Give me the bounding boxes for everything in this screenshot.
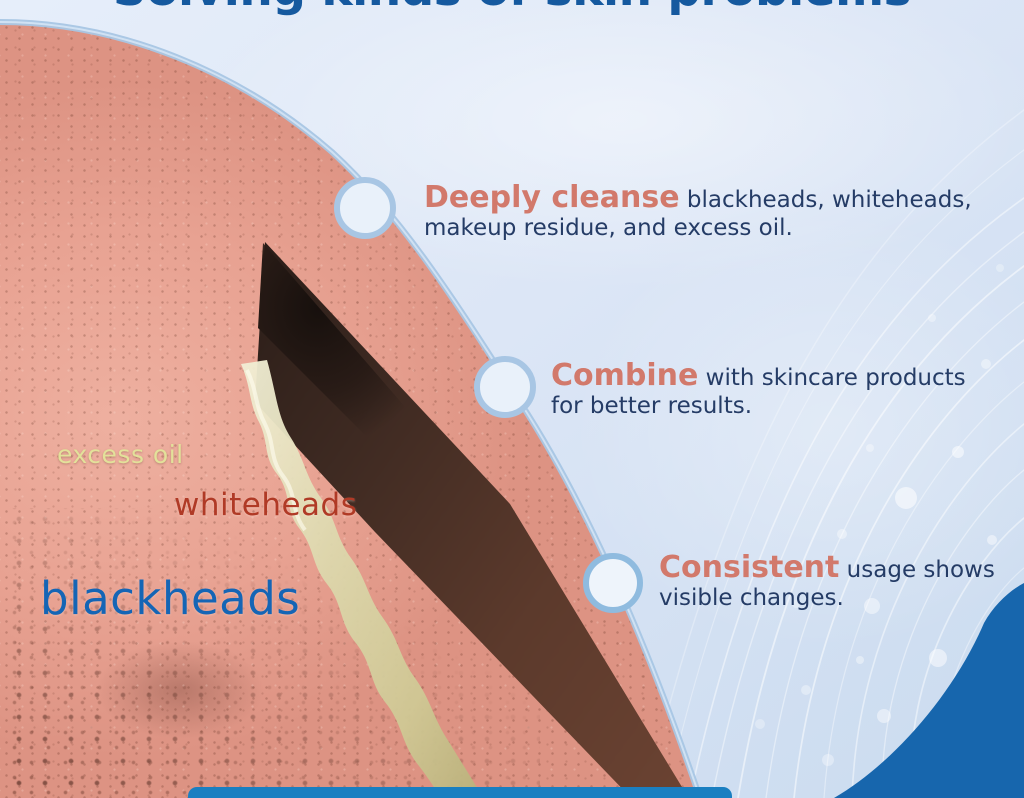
page-title: Solving kinds of skin problems: [0, 0, 1024, 17]
photo-label-excess-oil: excess oil: [57, 440, 184, 469]
callout-1-line2: makeup residue, and excess oil.: [424, 215, 1020, 242]
callout-3-highlight: Consistent: [659, 550, 839, 585]
photo-label-blackheads: blackheads: [40, 572, 300, 625]
callout-1-highlight: Deeply cleanse: [424, 180, 680, 215]
callout-3-line1: usage shows: [839, 557, 994, 583]
callout-2-line2: for better results.: [551, 393, 1021, 420]
callout-2-highlight: Combine: [551, 358, 698, 393]
callout-consistent: Consistent usage shows visible changes.: [659, 550, 1019, 613]
callout-combine: Combine with skincare products for bette…: [551, 358, 1021, 421]
bottom-blue-bar: [188, 787, 732, 798]
callout-2-line1: with skincare products: [698, 365, 965, 391]
callout-1-line1: blackheads, whiteheads,: [680, 187, 972, 213]
corner-wedge-shape: [834, 583, 1024, 798]
photo-label-whiteheads: whiteheads: [174, 487, 357, 523]
poster-canvas: Solving kinds of skin problems: [0, 0, 1024, 798]
callout-deeply-cleanse: Deeply cleanse blackheads, whiteheads, m…: [424, 180, 1020, 243]
callout-3-line2: visible changes.: [659, 585, 1019, 612]
